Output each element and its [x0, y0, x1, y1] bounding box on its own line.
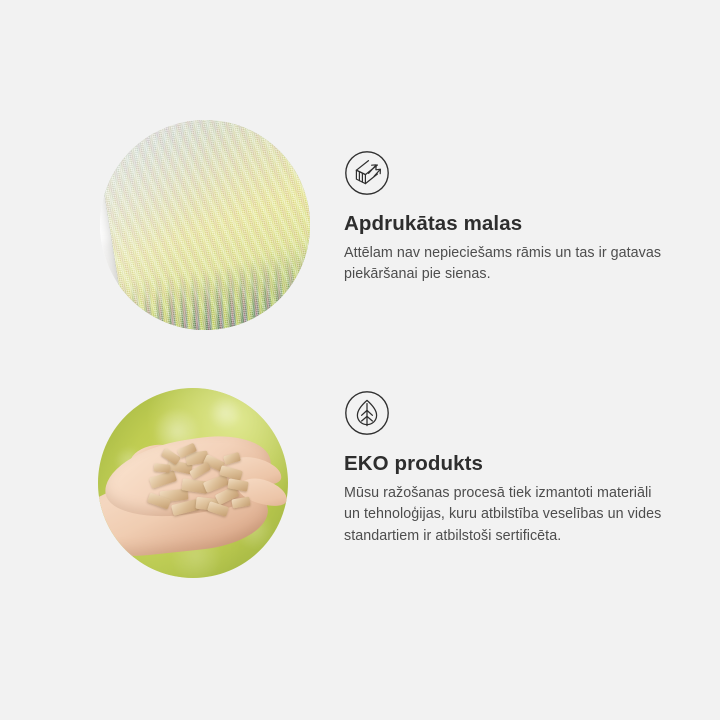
leaf-icon	[344, 390, 390, 436]
hands-with-wood-chips-photo	[98, 388, 288, 578]
wood-chip	[223, 452, 241, 465]
feature-description: Attēlam nav nepieciešams rāmis un tas ir…	[344, 243, 669, 286]
canvas-printed-face	[100, 120, 310, 330]
product-features-page: Apdrukātas malas Attēlam nav nepieciešam…	[0, 0, 720, 720]
feature-description: Mūsu ražošanas procesā tiek izmantoti ma…	[344, 483, 669, 548]
canvas-bottom-edge-shading	[129, 314, 310, 330]
canvas-slab	[100, 120, 310, 330]
canvas-highlight	[100, 120, 310, 330]
canvas-print-photo	[100, 120, 310, 330]
feature-title: EKO produkts	[344, 452, 674, 477]
wood-chip	[207, 501, 229, 517]
wrapped-canvas-edge-icon	[344, 150, 390, 196]
wood-chips-pile	[146, 444, 256, 518]
feature-eko-product: EKO produkts Mūsu ražošanas procesā tiek…	[344, 390, 674, 548]
bokeh-highlight	[210, 398, 240, 428]
feature-title: Apdrukātas malas	[344, 212, 674, 237]
canvas-print-drip-texture	[118, 249, 310, 330]
feature-printed-edges: Apdrukātas malas Attēlam nav nepieciešam…	[344, 150, 674, 286]
wood-chip	[231, 497, 250, 509]
wood-chip	[149, 470, 177, 488]
wood-chip	[154, 463, 171, 473]
